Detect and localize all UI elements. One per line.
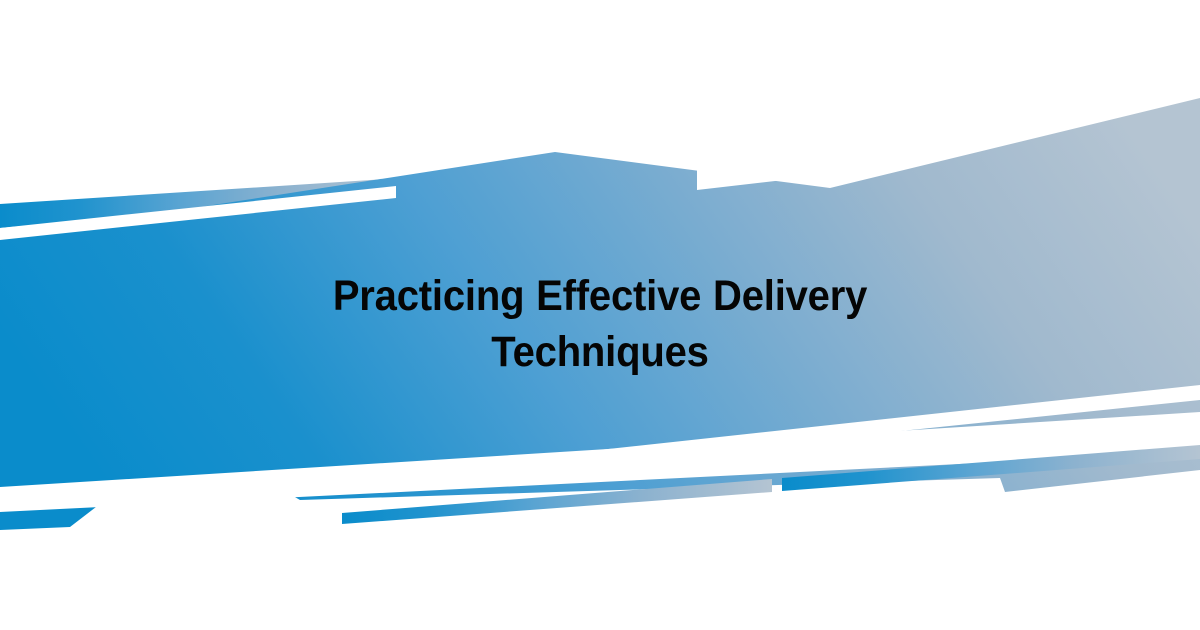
dash-gap-1 xyxy=(714,138,719,157)
dash-square-2 xyxy=(724,137,728,157)
banner-card: Practicing Effective Delivery Techniques xyxy=(0,0,1200,630)
dash-square-1 xyxy=(697,139,712,158)
banner-decorative-artwork xyxy=(0,0,1200,630)
